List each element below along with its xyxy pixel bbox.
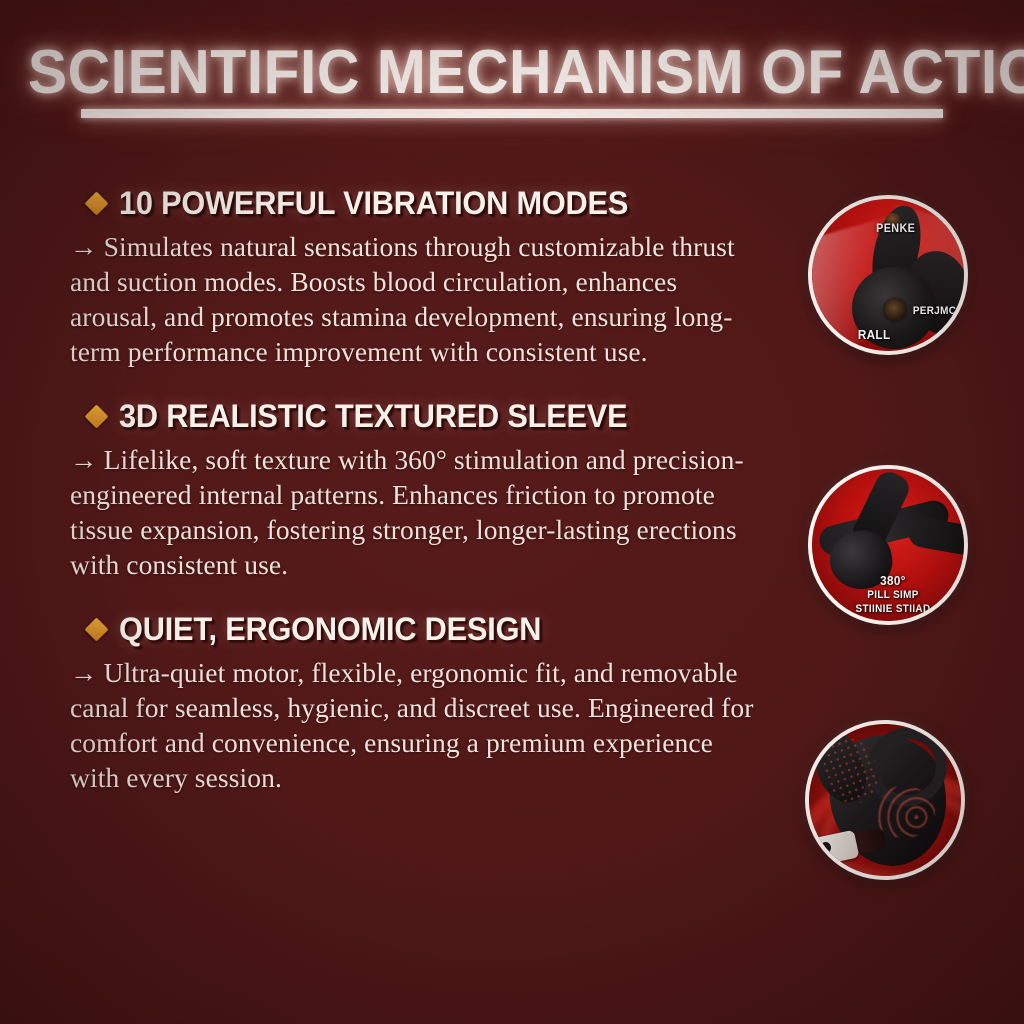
feature-sections: 10 POWERFUL VIBRATION MODES →Simulates n… xyxy=(70,186,770,795)
feature-heading-2: 3D REALISTIC TEXTURED SLEEVE xyxy=(119,399,627,433)
product-image-2: 380° PILL SIMP STIINIE STIIAD xyxy=(808,465,968,625)
feature-heading-row-1: 10 POWERFUL VIBRATION MODES xyxy=(88,186,770,220)
product-image-3 xyxy=(805,720,965,880)
infographic-page: SCIENTIFIC MECHANISM OF ACTION 10 POWERF… xyxy=(0,0,1024,1024)
photo-caption-1a: PENKE xyxy=(876,221,915,235)
feature-section-3: QUIET, ERGONOMIC DESIGN →Ultra-quiet mot… xyxy=(70,612,770,795)
feature-body-text-1: Simulates natural sensations through cus… xyxy=(70,231,735,367)
feature-section-1: 10 POWERFUL VIBRATION MODES →Simulates n… xyxy=(70,186,770,369)
feature-heading-3: QUIET, ERGONOMIC DESIGN xyxy=(119,612,541,646)
diamond-bullet-icon xyxy=(84,404,108,428)
arrow-icon-3: → xyxy=(70,657,98,688)
product-image-1: PENKE PERJMCU RALL xyxy=(808,195,968,355)
product-photo-1: PENKE PERJMCU RALL xyxy=(812,199,964,351)
feature-heading-row-2: 3D REALISTIC TEXTURED SLEEVE xyxy=(88,399,770,433)
photo-caption-2c: STIINIE STIIAD xyxy=(854,603,931,615)
feature-body-2: →Lifelike, soft texture with 360° stimul… xyxy=(70,442,760,582)
photo-caption-2a: 380° xyxy=(865,573,921,588)
feature-body-text-3: Ultra-quiet motor, flexible, ergonomic f… xyxy=(70,657,754,793)
page-title-block: SCIENTIFIC MECHANISM OF ACTION xyxy=(0,44,1024,118)
page-title: SCIENTIFIC MECHANISM OF ACTION xyxy=(28,44,1024,102)
photo-caption-1c: RALL xyxy=(858,327,891,342)
product-photo-3 xyxy=(809,724,961,876)
feature-heading-row-3: QUIET, ERGONOMIC DESIGN xyxy=(88,612,770,646)
feature-body-text-2: Lifelike, soft texture with 360° stimula… xyxy=(70,444,744,580)
arrow-icon-2: → xyxy=(70,444,98,475)
feature-body-3: →Ultra-quiet motor, flexible, ergonomic … xyxy=(70,655,760,795)
diamond-bullet-icon xyxy=(84,617,108,641)
photo-caption-2b: PILL SIMP xyxy=(854,589,931,601)
feature-heading-1: 10 POWERFUL VIBRATION MODES xyxy=(119,186,628,220)
feature-body-1: →Simulates natural sensations through cu… xyxy=(70,229,760,369)
feature-section-2: 3D REALISTIC TEXTURED SLEEVE →Lifelike, … xyxy=(70,399,770,582)
product-photo-2: 380° PILL SIMP STIINIE STIIAD xyxy=(812,469,964,621)
title-underline xyxy=(81,109,943,118)
product-knob xyxy=(884,299,906,321)
photo-caption-1b: PERJMCU xyxy=(913,305,964,317)
arrow-icon-1: → xyxy=(70,231,98,262)
diamond-bullet-icon xyxy=(84,191,108,215)
